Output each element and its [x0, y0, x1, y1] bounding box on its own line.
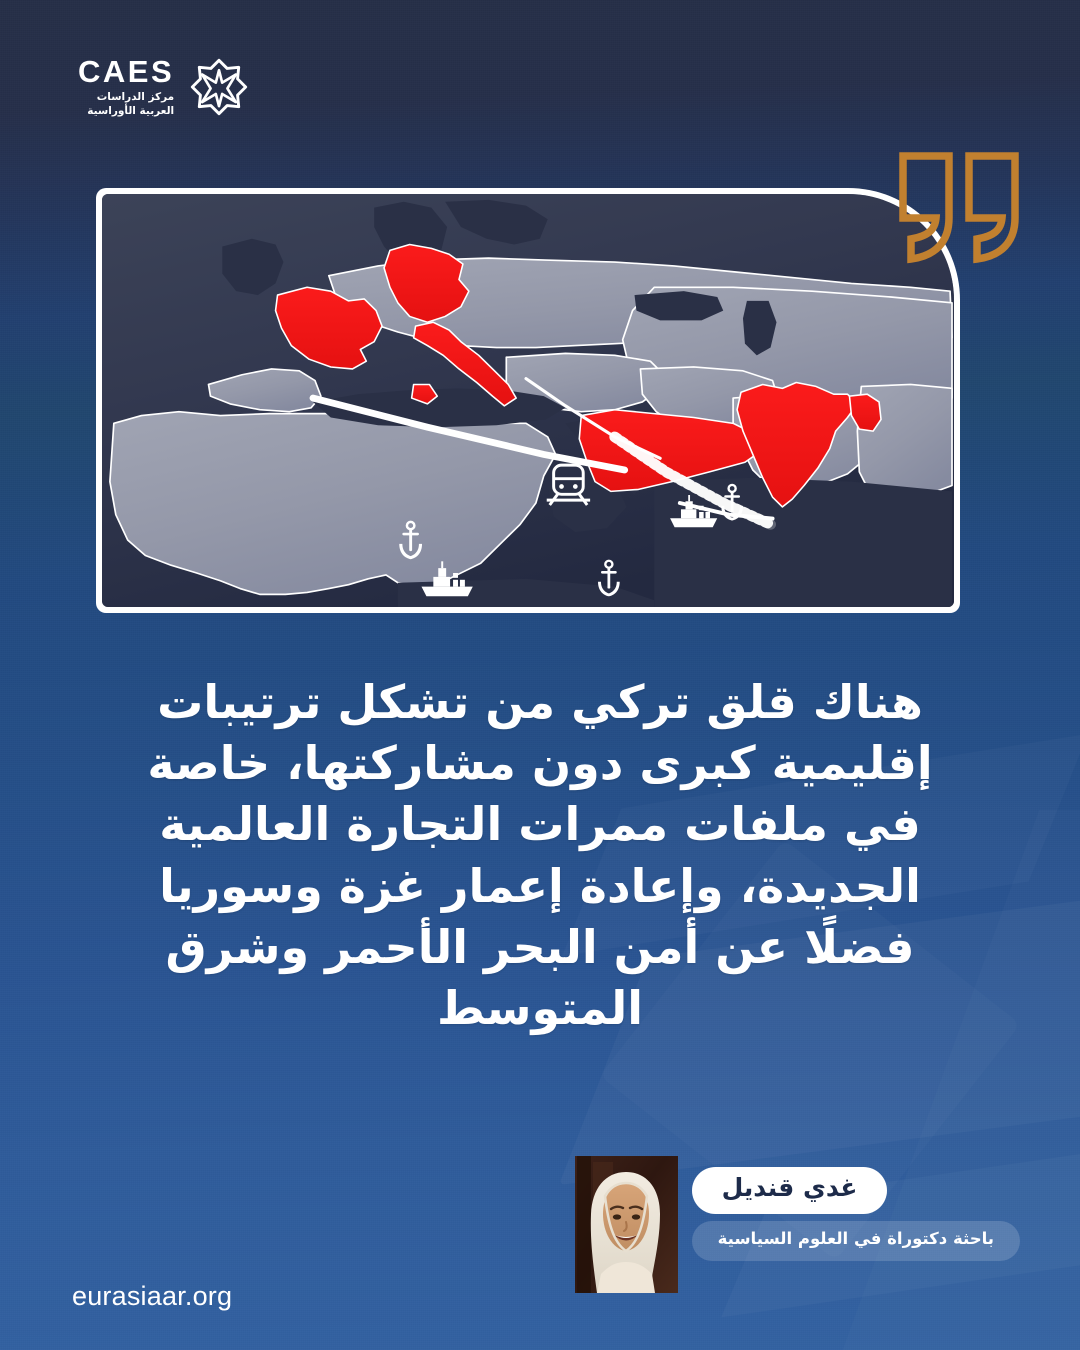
logo-caes-text: CAES — [78, 56, 174, 87]
avatar — [575, 1156, 678, 1293]
author-role: باحثة دكتوراة في العلوم السياسية — [692, 1221, 1020, 1261]
map-container — [96, 188, 960, 613]
quote-line: الجديدة، وإعادة إعمار غزة وسوريا — [92, 856, 988, 917]
imec-corridor-map — [102, 194, 954, 607]
quote-line: فضلًا عن أمن البحر الأحمر وشرق — [92, 917, 988, 978]
map-image — [102, 194, 954, 607]
quote-line: هناك قلق تركي من تشكل ترتيبات — [92, 672, 988, 733]
quote-line: المتوسط — [92, 978, 988, 1039]
quote-line: إقليمية كبرى دون مشاركتها، خاصة — [92, 733, 988, 794]
portrait-photo-icon — [575, 1156, 678, 1293]
logo-arabic-line-2: العربية الأوراسية — [87, 105, 174, 119]
eight-pointed-star-icon — [190, 58, 248, 116]
quote-line: في ملفات ممرات التجارة العالمية — [92, 794, 988, 855]
quote-text: هناك قلق تركي من تشكل ترتيبات إقليمية كب… — [0, 672, 1080, 1039]
attribution: غدي قنديل باحثة دكتوراة في العلوم السياس… — [575, 1156, 1020, 1293]
attribution-texts: غدي قنديل باحثة دكتوراة في العلوم السياس… — [692, 1167, 1020, 1293]
caes-logo[interactable]: CAES مركز الدراسات العربية الأوراسية — [78, 56, 248, 119]
logo-arabic-line-1: مركز الدراسات — [97, 91, 174, 105]
author-name: غدي قنديل — [692, 1167, 888, 1214]
website-url[interactable]: eurasiaar.org — [72, 1281, 232, 1312]
quote-card: CAES مركز الدراسات العربية الأوراسية — [0, 0, 1080, 1350]
double-quote-icon — [895, 150, 1025, 265]
logo-wordmark: CAES مركز الدراسات العربية الأوراسية — [78, 56, 174, 119]
